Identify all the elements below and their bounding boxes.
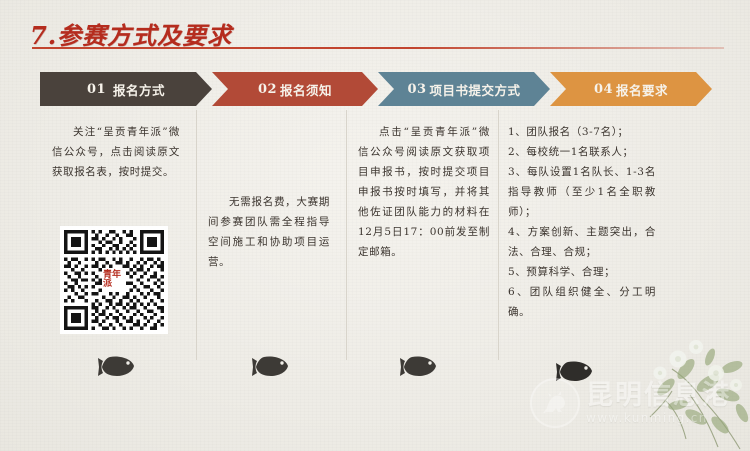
requirement-item-5: 5、预算科学、合理； [508, 262, 656, 282]
step-header-04[interactable]: 04 报名要求 [550, 72, 712, 106]
qr-center-logo: 青年派 [102, 268, 126, 292]
requirement-item-2: 2、每校统一1名联系人； [508, 142, 656, 162]
step-body-02: 无需报名费，大赛期间参赛团队需全程指导空间施工和协助项目运营。 [208, 192, 330, 272]
step-body-01: 关注“呈贡青年派”微信公众号，点击阅读原文获取报名表，按时提交。 [52, 122, 180, 182]
step-header-bar: 01 报名方式 02 报名须知 03 项目书提交方式 04 报名要求 [40, 72, 712, 106]
requirement-item-4: 4、方案创新、主题突出，合法、合理、合规； [508, 222, 656, 262]
requirement-item-3: 3、每队设置1名队长、1-3名指导教师（至少1名全职教师）； [508, 162, 656, 222]
step-body-text-01: 关注“呈贡青年派”微信公众号，点击阅读原文获取报名表，按时提交。 [52, 122, 180, 182]
requirement-item-1: 1、团队报名（3-7名）； [508, 122, 656, 142]
step-body-text-03: 点击“呈贡青年派”微信公众号阅读原文获取项目申报书，按时提交项目申报书按时填写，… [358, 122, 490, 262]
qr-code[interactable]: 青年派 [60, 226, 168, 334]
step-number-02: 02 [258, 82, 277, 97]
fish-icon-svg [252, 355, 290, 379]
step-body-text-02: 无需报名费，大赛期间参赛团队需全程指导空间施工和协助项目运营。 [208, 192, 330, 272]
fish-icon [98, 355, 136, 384]
fish-icon [252, 355, 290, 384]
qr-code-image: 青年派 [64, 230, 164, 330]
step-header-03[interactable]: 03 项目书提交方式 [378, 72, 550, 106]
page-title: 7.参赛方式及要求 [30, 16, 232, 51]
slide-canvas: 7.参赛方式及要求 01 报名方式 02 报名须知 03 项目书提交方式 04 … [0, 0, 750, 451]
horse-rider-icon-svg [538, 386, 572, 420]
step-number-03: 03 [407, 82, 426, 97]
title-underline [32, 47, 724, 49]
step-number-01: 01 [87, 82, 106, 97]
step-label-02: 报名须知 [278, 80, 332, 99]
fish-icon-svg [98, 355, 136, 379]
horse-rider-circle-logo-icon [530, 378, 580, 428]
page-title-block: 7.参赛方式及要求 [30, 16, 232, 51]
step-number-04: 04 [594, 82, 613, 97]
watermark-texts: 昆明信息港 www.kunming.cn [586, 382, 731, 424]
step-body-03: 点击“呈贡青年派”微信公众号阅读原文获取项目申报书，按时提交项目申报书按时填写，… [358, 122, 490, 262]
step-label-04: 报名要求 [614, 80, 668, 99]
watermark: 昆明信息港 www.kunming.cn [530, 378, 731, 428]
column-divider-1 [196, 110, 197, 360]
fish-icon [400, 355, 438, 384]
column-divider-2 [346, 110, 347, 360]
watermark-url: www.kunming.cn [586, 412, 731, 424]
fish-icon-svg [400, 355, 438, 379]
step-header-01[interactable]: 01 报名方式 [40, 72, 212, 106]
step-label-01: 报名方式 [107, 80, 165, 99]
step-body-04: 1、团队报名（3-7名）； 2、每校统一1名联系人； 3、每队设置1名队长、1-… [508, 122, 656, 322]
column-divider-3 [498, 110, 499, 360]
step-label-03: 项目书提交方式 [428, 80, 521, 99]
requirement-item-6: 6、团队组织健全、分工明确。 [508, 282, 656, 322]
step-header-02[interactable]: 02 报名须知 [212, 72, 378, 106]
watermark-site-name: 昆明信息港 [586, 382, 731, 409]
qr-logo-text: 青年派 [103, 271, 125, 289]
